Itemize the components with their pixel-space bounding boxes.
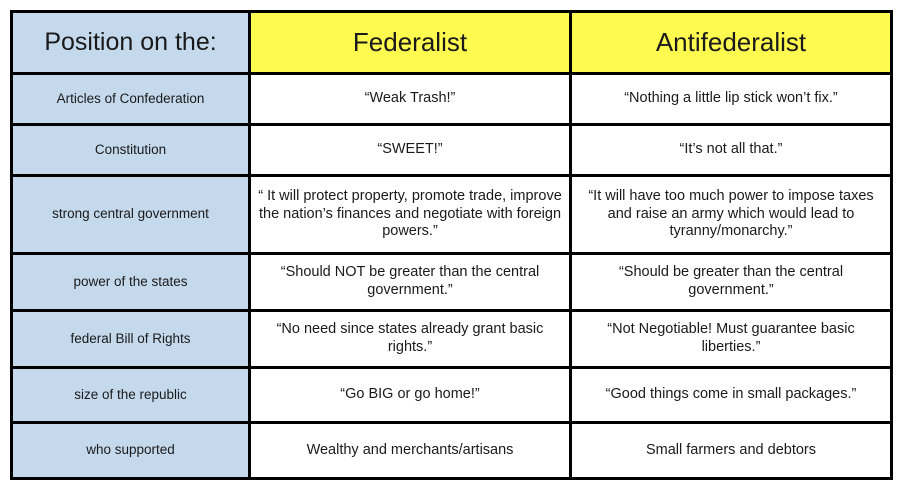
table-row: size of the republic “Go BIG or go home!… bbox=[12, 368, 892, 423]
header-cell-position: Position on the: bbox=[12, 12, 250, 74]
cell-federalist-who-supported: Wealthy and merchants/artisans bbox=[250, 423, 571, 479]
cell-antifederalist-size-of-the-republic: “Good things come in small packages.” bbox=[571, 368, 892, 423]
cell-antifederalist-who-supported: Small farmers and debtors bbox=[571, 423, 892, 479]
table-row: who supported Wealthy and merchants/arti… bbox=[12, 423, 892, 479]
cell-antifederalist-power-of-the-states: “Should be greater than the central gove… bbox=[571, 254, 892, 311]
table-row: Articles of Confederation “Weak Trash!” … bbox=[12, 74, 892, 125]
table-row: Constitution “SWEET!” “It’s not all that… bbox=[12, 125, 892, 176]
table-header-row: Position on the: Federalist Antifederali… bbox=[12, 12, 892, 74]
row-label-who-supported: who supported bbox=[12, 423, 250, 479]
header-cell-antifederalist: Antifederalist bbox=[571, 12, 892, 74]
row-label-constitution: Constitution bbox=[12, 125, 250, 176]
cell-antifederalist-constitution: “It’s not all that.” bbox=[571, 125, 892, 176]
federalist-antifederalist-comparison-table: Position on the: Federalist Antifederali… bbox=[10, 10, 893, 480]
comparison-table-container: Position on the: Federalist Antifederali… bbox=[0, 0, 900, 491]
table-row: power of the states “Should NOT be great… bbox=[12, 254, 892, 311]
cell-federalist-constitution: “SWEET!” bbox=[250, 125, 571, 176]
cell-antifederalist-articles-of-confederation: “Nothing a little lip stick won’t fix.” bbox=[571, 74, 892, 125]
table-row: strong central government “ It will prot… bbox=[12, 176, 892, 254]
header-cell-federalist: Federalist bbox=[250, 12, 571, 74]
cell-federalist-size-of-the-republic: “Go BIG or go home!” bbox=[250, 368, 571, 423]
cell-antifederalist-strong-central-government: “It will have too much power to impose t… bbox=[571, 176, 892, 254]
table-row: federal Bill of Rights “No need since st… bbox=[12, 311, 892, 368]
row-label-size-of-the-republic: size of the republic bbox=[12, 368, 250, 423]
cell-federalist-federal-bill-of-rights: “No need since states already grant basi… bbox=[250, 311, 571, 368]
cell-federalist-power-of-the-states: “Should NOT be greater than the central … bbox=[250, 254, 571, 311]
cell-federalist-strong-central-government: “ It will protect property, promote trad… bbox=[250, 176, 571, 254]
cell-antifederalist-federal-bill-of-rights: “Not Negotiable! Must guarantee basic li… bbox=[571, 311, 892, 368]
row-label-federal-bill-of-rights: federal Bill of Rights bbox=[12, 311, 250, 368]
row-label-strong-central-government: strong central government bbox=[12, 176, 250, 254]
row-label-articles-of-confederation: Articles of Confederation bbox=[12, 74, 250, 125]
cell-federalist-articles-of-confederation: “Weak Trash!” bbox=[250, 74, 571, 125]
row-label-power-of-the-states: power of the states bbox=[12, 254, 250, 311]
